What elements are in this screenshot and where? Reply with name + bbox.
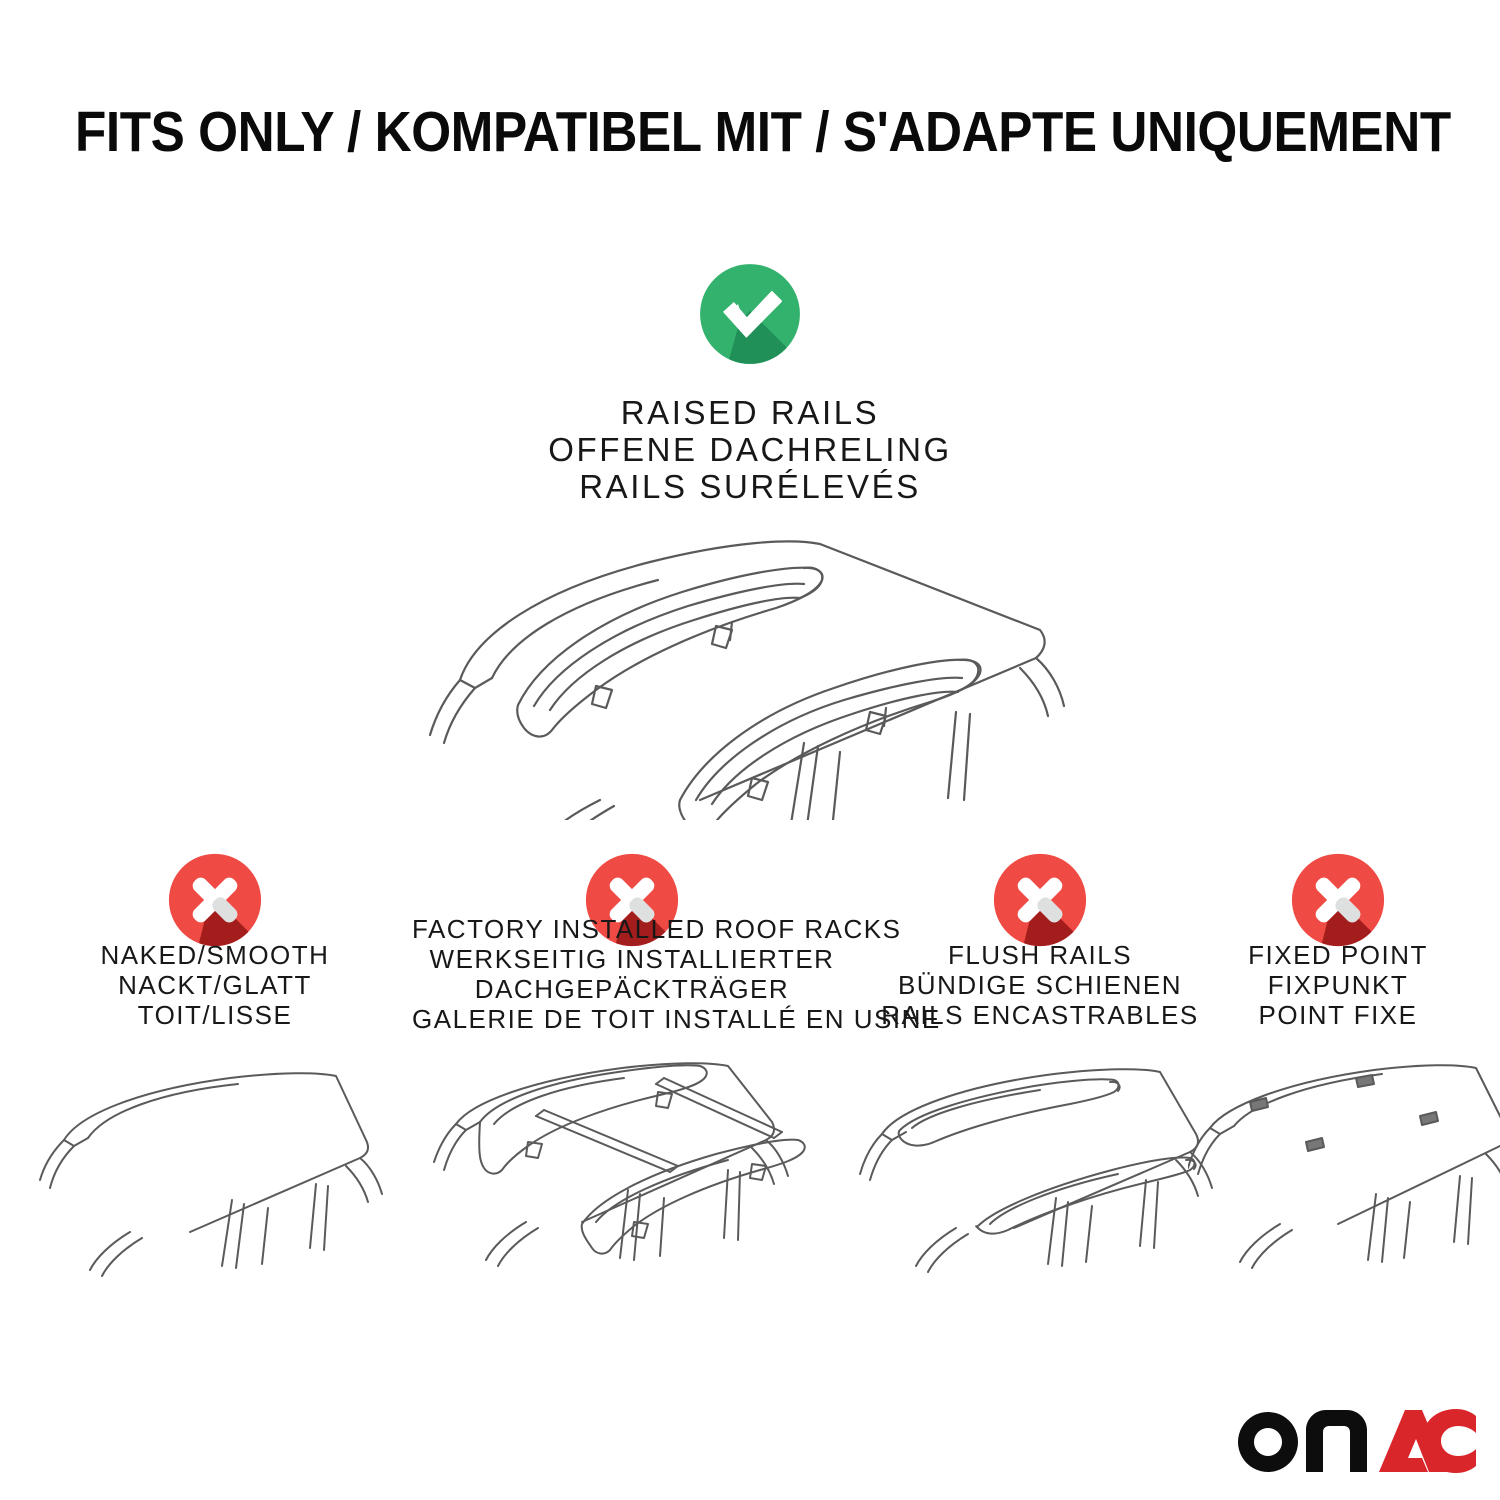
x-icon-wrap <box>858 852 1222 953</box>
incompatible-label-line: NACKT/GLATT <box>20 970 410 1000</box>
roof-illustration-flush-rails <box>858 1062 1222 1292</box>
incompatible-label-line: FLUSH RAILS <box>858 940 1222 970</box>
raised-rails-drawing <box>400 500 1100 820</box>
compatible-label-group: RAISED RAILS OFFENE DACHRELING RAILS SUR… <box>0 394 1500 505</box>
incompatible-column-naked-smooth: NAKED/SMOOTH NACKT/GLATT TOIT/LISSE <box>20 852 410 1292</box>
incompatible-label-line: WERKSEITIG INSTALLIERTER <box>412 944 852 974</box>
compatible-section: RAISED RAILS OFFENE DACHRELING RAILS SUR… <box>0 262 1500 505</box>
factory-crossbars-drawing <box>432 1062 832 1282</box>
roof-illustration-factory-crossbars <box>412 1062 852 1292</box>
flush-rails-drawing <box>858 1062 1228 1282</box>
omac-logo <box>1232 1406 1476 1480</box>
incompatible-label-line: DACHGEPÄCKTRÄGER <box>412 974 852 1004</box>
incompatible-label-group: NAKED/SMOOTH NACKT/GLATT TOIT/LISSE <box>20 940 410 1030</box>
x-icon-wrap <box>1188 852 1488 953</box>
incompatible-label-line: FACTORY INSTALLED ROOF RACKS <box>412 914 852 944</box>
incompatible-column-flush-rails: FLUSH RAILS BÜNDIGE SCHIENEN RAILS ENCAS… <box>858 852 1222 1292</box>
incompatible-label-line: GALERIE DE TOIT INSTALLÉ EN USINE <box>412 1004 852 1034</box>
page-title: FITS ONLY / KOMPATIBEL MIT / S'ADAPTE UN… <box>75 104 1425 161</box>
roof-illustration-bare <box>20 1062 410 1292</box>
fixed-points-drawing <box>1188 1062 1500 1282</box>
x-circle-icon <box>992 852 1088 948</box>
incompatible-column-factory-racks: FACTORY INSTALLED ROOF RACKS WERKSEITIG … <box>412 852 852 1292</box>
incompatible-label-line: FIXED POINT <box>1188 940 1488 970</box>
incompatible-label-group: FACTORY INSTALLED ROOF RACKS WERKSEITIG … <box>412 914 852 1034</box>
incompatible-label-group: FIXED POINT FIXPUNKT POINT FIXE <box>1188 940 1488 1030</box>
incompatible-section: NAKED/SMOOTH NACKT/GLATT TOIT/LISSE <box>0 852 1500 1292</box>
x-icon-wrap <box>20 852 410 953</box>
logo-letter-o <box>1238 1412 1298 1472</box>
roof-illustration-raised-rails <box>400 500 1100 820</box>
incompatible-column-fixed-point: FIXED POINT FIXPUNKT POINT FIXE <box>1188 852 1488 1292</box>
incompatible-label-line: POINT FIXE <box>1188 1000 1488 1030</box>
roof-illustration-fixed-points <box>1188 1062 1488 1292</box>
omac-logo-mark <box>1232 1406 1476 1480</box>
check-circle-icon <box>698 262 802 366</box>
incompatible-label-line: BÜNDIGE SCHIENEN <box>858 970 1222 1000</box>
incompatible-label-line: FIXPUNKT <box>1188 970 1488 1000</box>
x-circle-icon <box>167 852 263 948</box>
bare-roof-drawing <box>30 1062 400 1282</box>
incompatible-label-line: NAKED/SMOOTH <box>20 940 410 970</box>
compatible-label-line: OFFENE DACHRELING <box>0 431 1500 468</box>
incompatible-label-line: RAILS ENCASTRABLES <box>858 1000 1222 1030</box>
logo-letter-m <box>1306 1410 1367 1472</box>
compatible-label-line: RAISED RAILS <box>0 394 1500 431</box>
incompatible-label-line: TOIT/LISSE <box>20 1000 410 1030</box>
x-circle-icon <box>1290 852 1386 948</box>
incompatible-label-group: FLUSH RAILS BÜNDIGE SCHIENEN RAILS ENCAS… <box>858 940 1222 1030</box>
